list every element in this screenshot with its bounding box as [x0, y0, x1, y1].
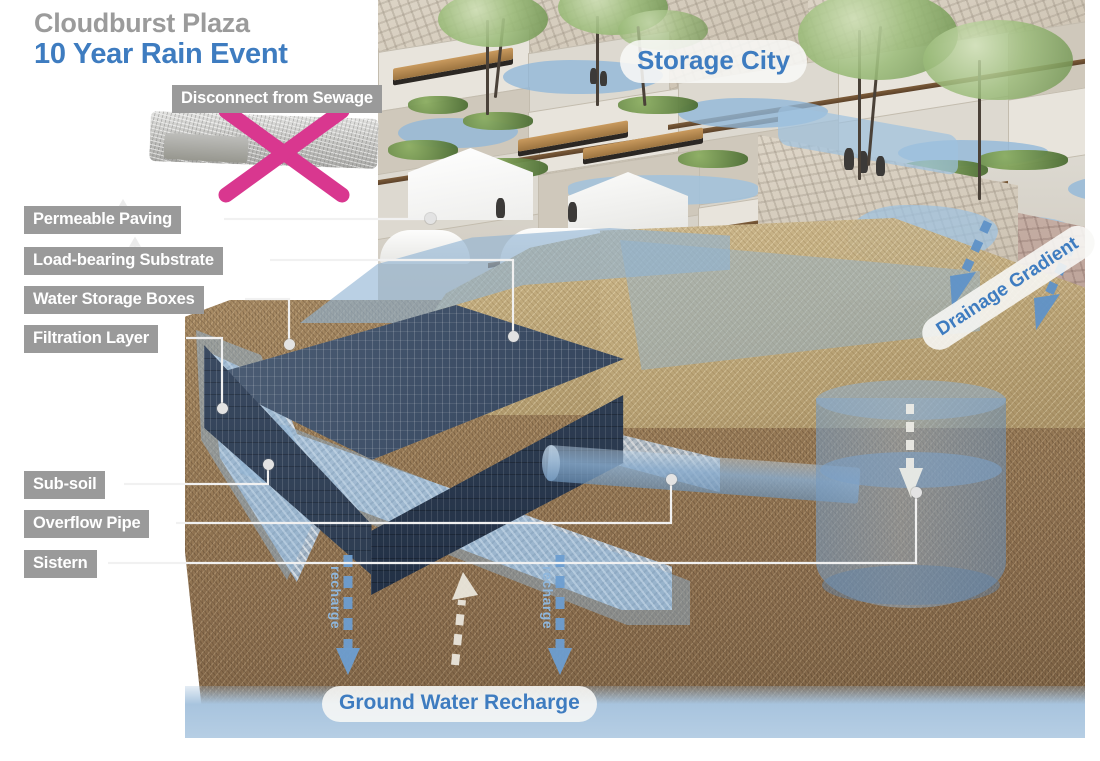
ground-water-table [185, 686, 1085, 738]
sistern-water-surface [820, 452, 1002, 488]
infographic-canvas: recharge recharge Disconnect from Sewage… [0, 0, 1100, 761]
recharge-label-right: recharge [540, 566, 556, 629]
photo-mask-bottom [0, 738, 1100, 761]
label-water-storage-boxes: Water Storage Boxes [24, 286, 204, 314]
label-overflow-pipe: Overflow Pipe [24, 510, 149, 538]
leader-dot-overflow-pipe [666, 474, 677, 485]
label-sistern: Sistern [24, 550, 97, 578]
recharge-label-left: recharge [328, 566, 344, 629]
leader-dot-sub-soil [263, 459, 274, 470]
pill-storage-city: Storage City [620, 40, 807, 83]
cross-icon [210, 101, 360, 206]
label-permeable-paving: Permeable Paving [24, 206, 181, 234]
leader-dot-storage-boxes [284, 339, 295, 350]
label-load-bearing: Load-bearing Substrate [24, 247, 223, 275]
photo-mask-right [1085, 0, 1100, 761]
label-sub-soil: Sub-soil [24, 471, 105, 499]
label-filtration-layer: Filtration Layer [24, 325, 158, 353]
disconnect-from-sewage-label: Disconnect from Sewage [172, 85, 382, 113]
sistern-top-ellipse [816, 380, 1006, 420]
leader-dot-sistern [911, 487, 922, 498]
title-line-2: 10 Year Rain Event [34, 38, 288, 70]
photo-mask-bottom-left [0, 210, 24, 761]
sistern-bottom-ellipse [822, 565, 1000, 605]
page-title: Cloudburst Plaza 10 Year Rain Event [34, 8, 288, 70]
title-line-1: Cloudburst Plaza [34, 8, 288, 38]
overflow-pipe-mouth [542, 445, 560, 481]
leader-dot-permeable-paving [425, 213, 436, 224]
leader-dot-filtration [217, 403, 228, 414]
leader-dot-load-bearing [508, 331, 519, 342]
pill-ground-water-recharge: Ground Water Recharge [322, 686, 597, 722]
